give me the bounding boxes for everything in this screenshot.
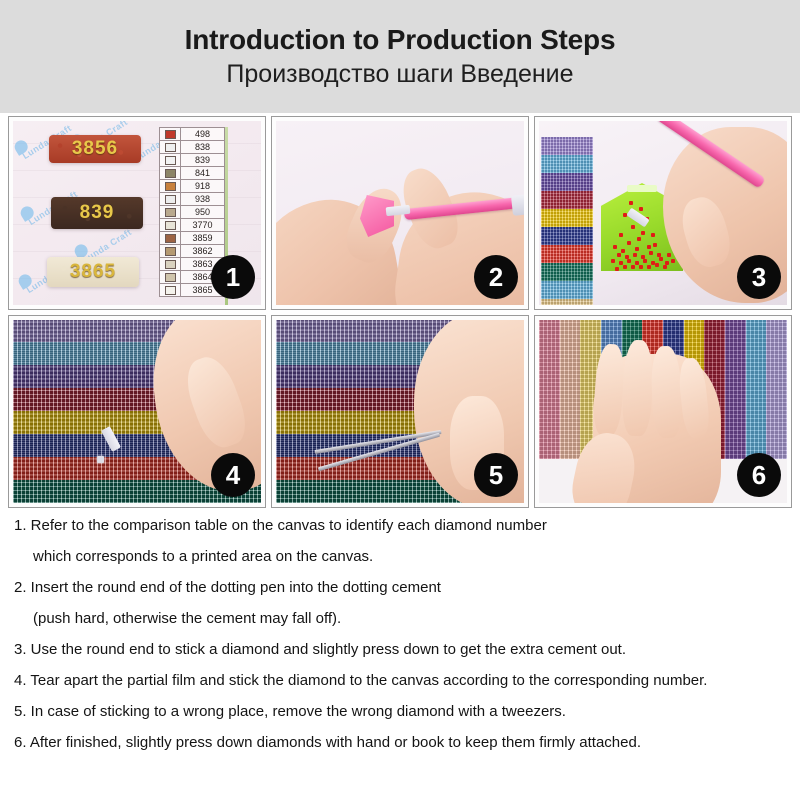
canvas-stripe (541, 245, 593, 263)
loose-diamond (627, 241, 631, 245)
diamond-bag-label: 839 (80, 202, 115, 224)
triangle-outline-icon (165, 221, 176, 230)
bead-texture (539, 320, 560, 459)
loose-diamond (613, 245, 617, 249)
loose-diamond (631, 265, 635, 269)
half-square-icon (165, 143, 176, 152)
color-chart-symbol-cell (160, 141, 181, 153)
loose-diamond (659, 257, 663, 261)
color-chart-code: 938 (181, 193, 224, 205)
plus-icon (165, 169, 176, 178)
color-chart-code: 839 (181, 154, 224, 166)
loose-diamond (639, 265, 643, 269)
finger (621, 339, 653, 436)
panel-pick-diamond-from-tray: 3 (534, 116, 792, 310)
loose-diamond (629, 201, 633, 205)
canvas-stripe (541, 281, 593, 299)
loose-diamond (617, 253, 621, 257)
loose-diamond (655, 263, 659, 267)
step-panel-grid: Lunda Craft Lunda Craft Lunda Craft Lund… (8, 116, 792, 508)
canvas-stripe (746, 320, 767, 459)
loose-diamond (647, 265, 651, 269)
loose-diamond (651, 233, 655, 237)
panel-press-down-with-hand: 6 (534, 315, 792, 509)
color-chart-symbol-cell (160, 258, 181, 270)
color-chart-symbol-cell (160, 193, 181, 205)
bead-texture (766, 320, 787, 459)
diamond-bag-839: 839 (51, 197, 143, 229)
step-badge: 3 (737, 255, 781, 299)
color-chart-symbol-cell (160, 219, 181, 231)
canvas-stripe (541, 263, 593, 281)
photo-step-4: 4 (13, 320, 261, 504)
canvas-stripe (541, 227, 593, 245)
single-diamond (97, 456, 104, 463)
page-title-russian: Производство шаги Введение (226, 59, 573, 89)
hourglass-icon (165, 156, 176, 165)
color-chart-row: 838 (160, 141, 224, 154)
loose-diamond (643, 259, 647, 263)
instruction-list: 1. Refer to the comparison table on the … (14, 518, 794, 766)
step-badge: 6 (737, 453, 781, 497)
bead-texture (746, 320, 767, 459)
photo-step-1: Lunda Craft Lunda Craft Lunda Craft Lund… (13, 121, 261, 305)
diamond-bag-label: 3856 (72, 138, 118, 160)
step-badge: 2 (474, 255, 518, 299)
bar-vertical-icon (165, 260, 176, 269)
color-chart-code: 838 (181, 141, 224, 153)
panel-insert-pen-into-cement: 2 (271, 116, 529, 310)
pen-cap (511, 194, 524, 216)
loose-diamond (653, 243, 657, 247)
instruction-line: 5. In case of sticking to a wrong place,… (14, 704, 794, 719)
color-chart-symbol-cell (160, 206, 181, 218)
loose-diamond (649, 251, 653, 255)
canvas-stripe (541, 191, 593, 209)
canvas-stripe (560, 320, 581, 459)
step-badge: 5 (474, 453, 518, 497)
bar-brown-icon (165, 234, 176, 243)
loose-diamond (615, 267, 619, 271)
color-chart-code: 3862 (181, 245, 224, 257)
color-chart-row: 3859 (160, 232, 224, 245)
color-chart-symbol-cell (160, 284, 181, 296)
canvas-stripe (541, 173, 593, 191)
color-chart-row: 3862 (160, 245, 224, 258)
color-chart-row: 498 (160, 128, 224, 141)
triangle-down-icon (165, 195, 176, 204)
loose-diamond (627, 259, 631, 263)
color-chart-code: 3770 (181, 219, 224, 231)
house-icon (165, 247, 176, 256)
color-chart-code: 918 (181, 180, 224, 192)
color-chart-symbol-cell (160, 180, 181, 192)
instruction-line: which corresponds to a printed area on t… (33, 549, 794, 564)
instruction-line: 6. After finished, slightly press down d… (14, 735, 794, 750)
photo-step-2: 2 (276, 121, 524, 305)
instruction-line: 1. Refer to the comparison table on the … (14, 518, 794, 533)
canvas-stripe (541, 209, 593, 227)
diamond-bag-label: 3865 (70, 261, 116, 283)
striped-diamond-canvas (541, 137, 593, 305)
loose-diamond (619, 233, 623, 237)
color-chart-symbol-cell (160, 271, 181, 283)
color-chart-code: 841 (181, 167, 224, 179)
panel-remove-with-tweezers: 5 (271, 315, 529, 509)
loose-diamond (623, 265, 627, 269)
color-chart-symbol-cell (160, 154, 181, 166)
step-badge: 4 (211, 453, 255, 497)
color-chart-code: 950 (181, 206, 224, 218)
loose-diamond (621, 249, 625, 253)
star-icon (165, 273, 176, 282)
canvas-stripe (766, 320, 787, 459)
color-chart-row: 839 (160, 154, 224, 167)
color-chart-symbol-cell (160, 167, 181, 179)
asterisk-icon (165, 208, 176, 217)
instruction-line: (push hard, otherwise the cement may fal… (33, 611, 794, 626)
corner-orange-icon (165, 182, 176, 191)
loose-diamond (637, 237, 641, 241)
loose-diamond (663, 265, 667, 269)
photo-step-6: 6 (539, 320, 787, 504)
square-red-icon (165, 130, 176, 139)
instruction-line: 2. Insert the round end of the dotting p… (14, 580, 794, 595)
color-chart-row: 938 (160, 193, 224, 206)
instruction-line: 3. Use the round end to stick a diamond … (14, 642, 794, 657)
loose-diamond (671, 259, 675, 263)
loose-diamond (667, 253, 671, 257)
panel-place-diamond-on-canvas: 4 (8, 315, 266, 509)
page-root: Introduction to Production Steps Произво… (0, 0, 800, 800)
step-badge: 1 (211, 255, 255, 299)
loose-diamond (641, 231, 645, 235)
color-chart-row: 950 (160, 206, 224, 219)
bead-texture (560, 320, 581, 459)
loose-diamond (647, 245, 651, 249)
page-header: Introduction to Production Steps Произво… (0, 0, 800, 113)
color-chart-symbol-cell (160, 245, 181, 257)
loose-diamond (635, 247, 639, 251)
color-chart-code: 498 (181, 128, 224, 140)
color-chart-code: 3859 (181, 232, 224, 244)
color-chart-symbol-cell (160, 128, 181, 140)
diamond-bag-3856: 3856 (49, 135, 141, 163)
panel-diamond-bags-and-color-chart: Lunda Craft Lunda Craft Lunda Craft Lund… (8, 116, 266, 310)
canvas-stripe (725, 320, 746, 459)
double-slash-icon (165, 286, 176, 295)
diamond-bag-3865: 3865 (47, 257, 139, 287)
photo-step-5: 5 (276, 320, 524, 504)
color-chart-row: 3770 (160, 219, 224, 232)
color-chart-row: 918 (160, 180, 224, 193)
loose-diamond (631, 225, 635, 229)
canvas-stripe (541, 155, 593, 173)
canvas-stripe (541, 137, 593, 155)
bead-texture (725, 320, 746, 459)
color-chart-symbol-cell (160, 232, 181, 244)
instruction-line: 4. Tear apart the partial film and stick… (14, 673, 794, 688)
photo-step-3: 3 (539, 121, 787, 305)
page-title-english: Introduction to Production Steps (185, 24, 616, 56)
color-chart-row: 841 (160, 167, 224, 180)
loose-diamond (639, 207, 643, 211)
canvas-stripe (539, 320, 560, 459)
loose-diamond (611, 259, 615, 263)
canvas-stripe (541, 299, 593, 305)
loose-diamond (633, 253, 637, 257)
